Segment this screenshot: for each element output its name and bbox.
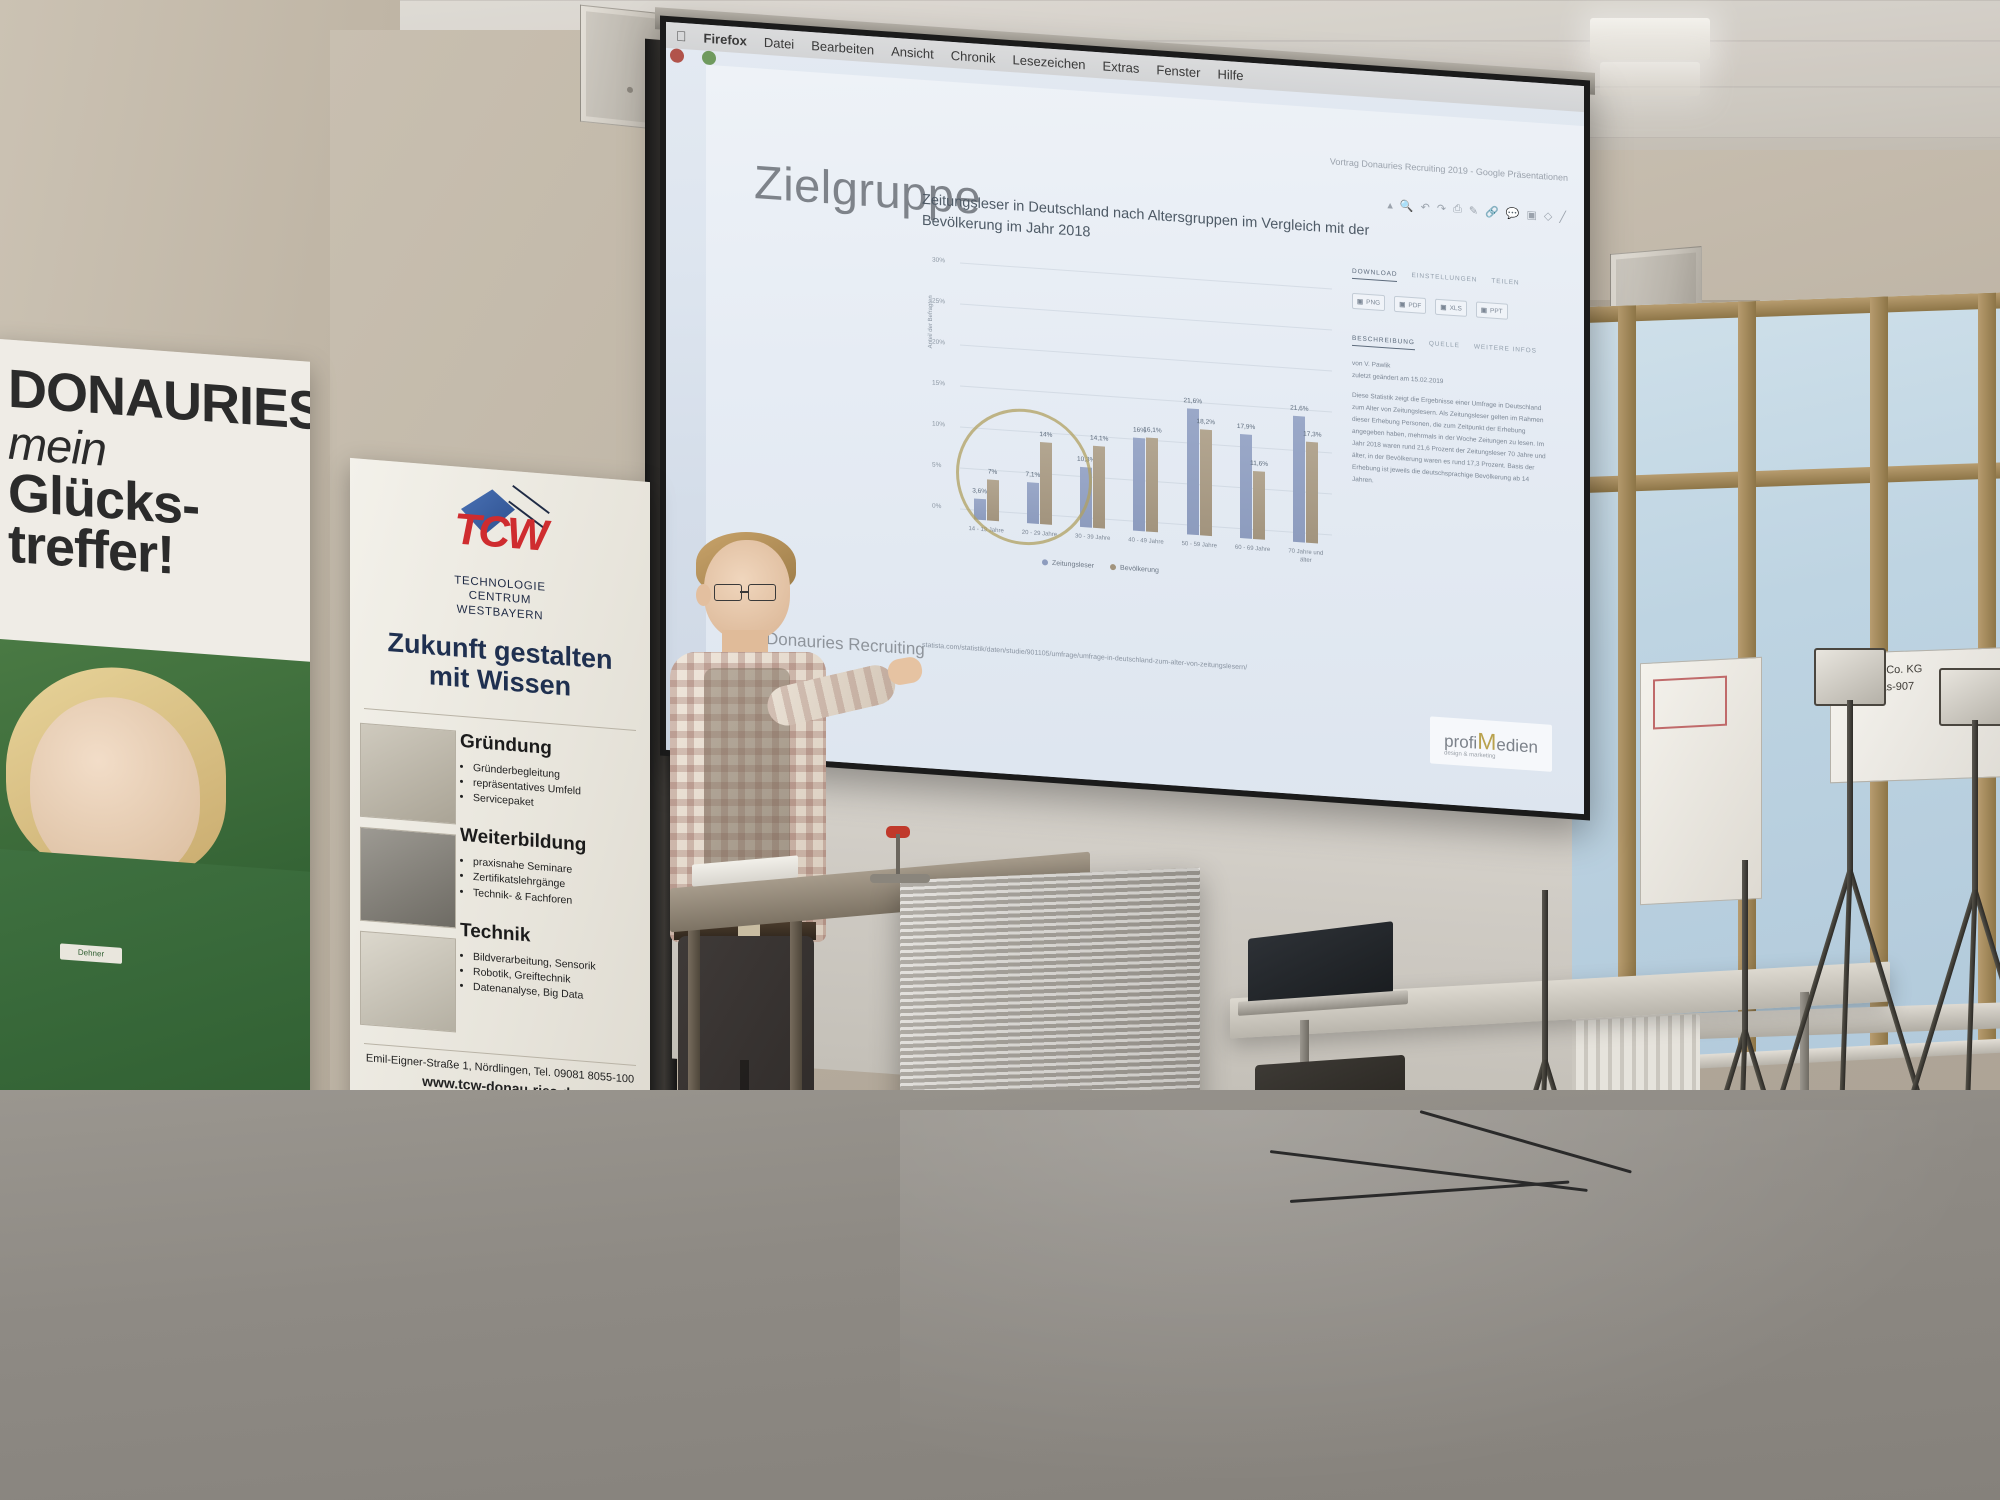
ytick-10: 10%: [932, 421, 945, 429]
bar-chart: Anteil der Befragten 30% 25% 20% 15% 10%…: [932, 253, 1332, 581]
document-title: Vortrag Donauries Recruiting 2019 - Goog…: [1330, 156, 1568, 183]
ytick-15: 15%: [932, 380, 945, 388]
download-pdf-button[interactable]: ▣PDF: [1394, 296, 1426, 314]
profi-logo-mark: M: [1477, 728, 1496, 755]
menu-fenster[interactable]: Fenster: [1156, 62, 1200, 80]
zoom-icon[interactable]: 🔍: [1400, 199, 1414, 213]
comment-icon[interactable]: 💬: [1506, 207, 1520, 221]
tab-download[interactable]: DOWNLOAD: [1352, 268, 1397, 282]
xtick-5: 60 - 69 Jahre: [1228, 544, 1276, 562]
chart-legend: Zeitungsleser Bevölkerung: [1042, 559, 1159, 574]
xtick-6: 70 Jahre und älter: [1282, 548, 1330, 566]
tcw-text-column: Gründung Gründerbegleitung repräsentativ…: [460, 730, 640, 1056]
download-png-button[interactable]: ▣PNG: [1352, 293, 1385, 311]
microphone-base: [870, 874, 930, 883]
slide-toolbar-icons[interactable]: ▴ 🔍 ↶ ↷ ⎙ ✎ 🔗 💬 ▣ ◇ ╱: [1387, 198, 1566, 223]
tcw-tagline: Zukunft gestalten mit Wissen: [350, 624, 650, 709]
xls-icon: ▣: [1440, 303, 1446, 311]
bar-bevoelkerung-4: 18,2%: [1200, 429, 1212, 536]
presenter-ear: [696, 584, 711, 606]
ytick-5: 5%: [932, 462, 941, 470]
link-icon[interactable]: 🔗: [1485, 205, 1499, 219]
bar-group-3: 16% 16,1%: [1122, 274, 1170, 533]
tab-weitere-infos[interactable]: WEITERE INFOS: [1474, 343, 1537, 358]
bar-bevoelkerung-2: 14,1%: [1093, 445, 1105, 528]
bar-value-bevoelkerung-3: 16,1%: [1143, 426, 1161, 434]
print-icon[interactable]: ⎙: [1453, 203, 1462, 217]
zoom-window-button[interactable]: [702, 50, 716, 65]
undo-icon[interactable]: ↶: [1421, 201, 1430, 215]
legend-item-bevoelkerung: Bevölkerung: [1110, 564, 1159, 574]
info-tabs[interactable]: BESCHREIBUNG QUELLE WEITERE INFOS: [1352, 335, 1552, 360]
statista-side-panel: DOWNLOAD EINSTELLUNGEN TEILEN ▣PNG ▣PDF …: [1352, 268, 1552, 500]
apple-menu-icon[interactable]: : [676, 28, 687, 45]
legend-label-bevoelkerung: Bevölkerung: [1120, 565, 1159, 575]
ceiling-light-2: [1600, 62, 1700, 96]
menu-hilfe[interactable]: Hilfe: [1217, 66, 1243, 83]
description-body: Diese Statistik zeigt die Ergebnisse ein…: [1352, 390, 1552, 500]
profi-logo-pre: profi: [1444, 731, 1477, 752]
paint-icon[interactable]: ✎: [1469, 204, 1478, 218]
menu-extras[interactable]: Extras: [1103, 58, 1140, 76]
download-xls-button[interactable]: ▣XLS: [1435, 299, 1466, 317]
close-window-button[interactable]: [670, 48, 684, 63]
bar-zeitungsleser-3: 16%: [1133, 437, 1145, 531]
presenter-glasses: [714, 584, 778, 599]
statista-source-url[interactable]: statista.com/statistik/daten/studie/9011…: [922, 642, 1247, 672]
xtick-2: 30 - 39 Jahre: [1069, 533, 1117, 551]
bar-group-4: 21,6% 18,2%: [1175, 278, 1223, 537]
tcw-logo: TCW TECHNOLOGIE CENTRUM WESTBAYERN: [350, 458, 650, 632]
pointer-icon[interactable]: ▴: [1387, 198, 1393, 211]
tab-quelle[interactable]: QUELLE: [1429, 340, 1460, 353]
bar-group-5: 17,9% 11,6%: [1228, 281, 1276, 540]
menu-ansicht[interactable]: Ansicht: [891, 43, 934, 61]
tcw-logo-mark: TCW: [435, 487, 565, 575]
tab-beschreibung[interactable]: BESCHREIBUNG: [1352, 335, 1415, 350]
ceiling-light-1: [1590, 18, 1710, 60]
tab-teilen[interactable]: TEILEN: [1491, 278, 1519, 291]
studio-light-panel-2: [1939, 668, 2000, 726]
statista-embed: Zeitungsleser in Deutschland nach Alters…: [922, 190, 1562, 705]
bar-zeitungsleser-4: 21,6%: [1187, 408, 1199, 535]
menu-app-firefox[interactable]: Firefox: [704, 30, 747, 48]
ppt-icon: ▣: [1481, 306, 1487, 314]
menu-datei[interactable]: Datei: [764, 34, 794, 51]
legend-swatch-zeitungsleser: [1042, 559, 1048, 565]
ytick-30: 30%: [932, 257, 945, 265]
ytick-25: 25%: [932, 298, 945, 306]
flipchart-drawing: [1653, 676, 1727, 730]
laptop[interactable]: [1238, 930, 1403, 1010]
conference-room-photo:  Firefox Datei Bearbeiten Ansicht Chron…: [0, 0, 2000, 1500]
bar-value-bevoelkerung-2: 14,1%: [1090, 434, 1108, 442]
tcw-photo-2: [360, 826, 456, 928]
description-panel: BESCHREIBUNG QUELLE WEITERE INFOS von V.…: [1352, 335, 1552, 500]
carpet-floor: [0, 1090, 2000, 1500]
tcw-list-gruendung: Gründerbegleitung repräsentatives Umfeld…: [460, 759, 640, 819]
download-ppt-button[interactable]: ▣PPT: [1476, 302, 1508, 320]
bar-zeitungsleser-5: 17,9%: [1240, 434, 1252, 539]
tcw-list-weiterbildung: praxisnahe Seminare Zertifikatslehrgänge…: [460, 854, 640, 914]
download-tabs[interactable]: DOWNLOAD EINSTELLUNGEN TEILEN: [1352, 268, 1552, 293]
bar-group-6: 21,6% 17,3%: [1282, 285, 1330, 544]
menu-bearbeiten[interactable]: Bearbeiten: [811, 38, 874, 57]
legend-item-zeitungsleser: Zeitungsleser: [1042, 559, 1094, 570]
tcw-sections: Gründung Gründerbegleitung repräsentativ…: [350, 708, 650, 1058]
legend-swatch-bevoelkerung: [1110, 564, 1116, 570]
window-traffic-lights[interactable]: [670, 48, 716, 65]
xtick-4: 50 - 59 Jahre: [1175, 541, 1223, 559]
bar-bevoelkerung-5: 11,6%: [1253, 471, 1265, 540]
shape-icon[interactable]: ◇: [1544, 209, 1552, 223]
bar-value-bevoelkerung-4: 18,2%: [1197, 418, 1215, 426]
tcw-list-technik: Bildverarbeitung, Sensorik Robotik, Grei…: [460, 949, 640, 1009]
bar-value-bevoelkerung-6: 17,3%: [1303, 430, 1321, 438]
ytick-0: 0%: [932, 503, 941, 511]
banner-donauries-headline: DONAURIES, mein Glücks- treffer!: [0, 338, 310, 661]
tcw-photo-column: [360, 722, 456, 1042]
pdf-icon: ▣: [1399, 300, 1405, 308]
tcw-logo-subtitle: TECHNOLOGIE CENTRUM WESTBAYERN: [350, 565, 650, 632]
redo-icon[interactable]: ↷: [1437, 202, 1446, 216]
xtick-3: 40 - 49 Jahre: [1122, 537, 1170, 555]
microphone: [860, 826, 940, 882]
tcw-photo-3: [360, 930, 456, 1032]
bar-value-zeitungsleser-5: 17,9%: [1237, 422, 1255, 430]
tcw-letters: TCW: [435, 503, 565, 563]
bar-value-zeitungsleser-6: 21,6%: [1290, 404, 1308, 412]
profi-medien-logo: profiMedien design & marketing: [1430, 716, 1552, 772]
menu-lesezeichen[interactable]: Lesezeichen: [1013, 52, 1086, 72]
image-icon[interactable]: ▣: [1527, 208, 1537, 222]
bar-value-bevoelkerung-5: 11,6%: [1250, 460, 1268, 468]
profi-logo-post: edien: [1496, 735, 1538, 757]
png-icon: ▣: [1357, 297, 1363, 305]
studio-light-panel: [1814, 648, 1886, 706]
ytick-20: 20%: [932, 339, 945, 347]
tcw-photo-1: [360, 722, 456, 824]
bar-bevoelkerung-6: 17,3%: [1306, 442, 1318, 544]
menu-chronik[interactable]: Chronik: [951, 47, 996, 65]
legend-label-zeitungsleser: Zeitungsleser: [1052, 560, 1094, 570]
line-icon[interactable]: ╱: [1559, 210, 1566, 223]
download-button-row[interactable]: ▣PNG ▣PDF ▣XLS ▣PPT: [1352, 293, 1552, 323]
tab-einstellungen[interactable]: EINSTELLUNGEN: [1411, 272, 1477, 288]
bar-bevoelkerung-3: 16,1%: [1146, 438, 1158, 533]
donauries-line4: treffer!: [8, 514, 174, 586]
bar-value-zeitungsleser-4: 21,6%: [1184, 397, 1202, 405]
